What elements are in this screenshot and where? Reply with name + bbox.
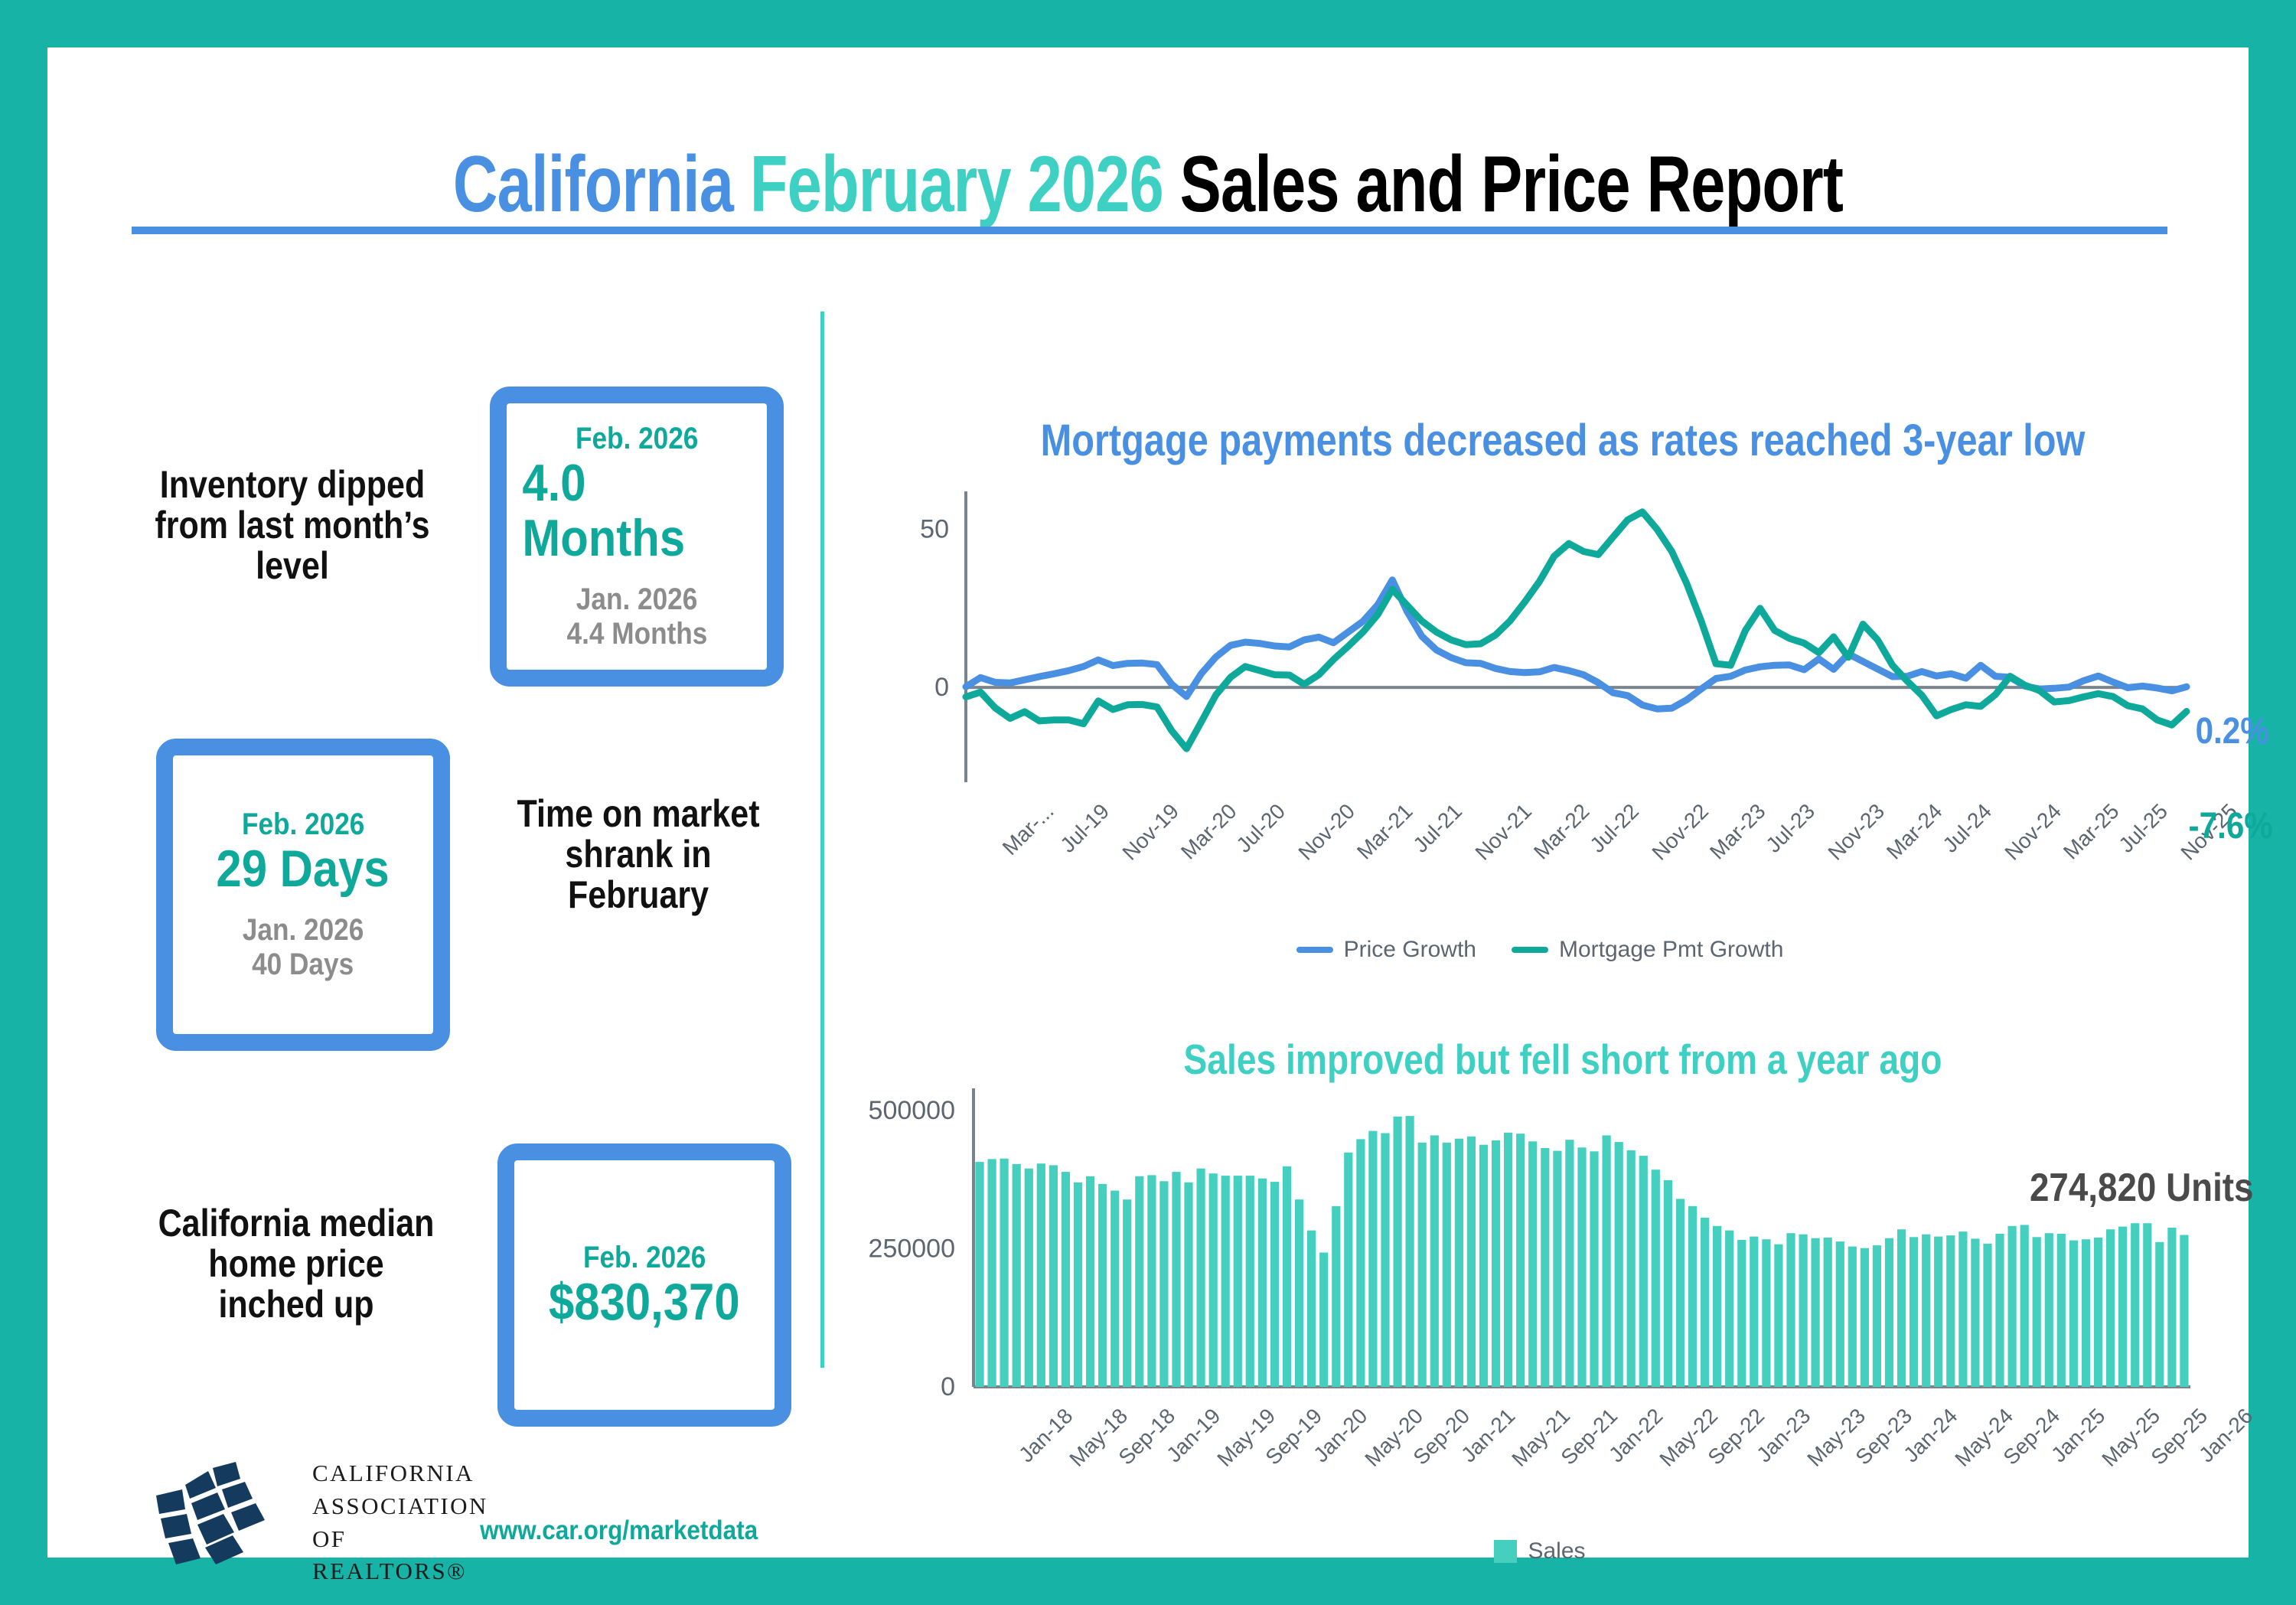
- stat-current-value: 29 Days: [217, 842, 390, 896]
- stat-previous-label: Jan. 2026: [576, 582, 698, 617]
- legend-label: Mortgage Pmt Growth: [1559, 937, 1783, 963]
- legend-item[interactable]: Mortgage Pmt Growth: [1512, 937, 1783, 963]
- mortgage-pmt-growth-end-label: -7.6%: [2189, 805, 2273, 847]
- legend-swatch-icon: [1512, 947, 1548, 953]
- line-chart-legend: Price GrowthMortgage Pmt Growth: [1195, 937, 1884, 963]
- car-logo-mark: [142, 1456, 295, 1571]
- vertical-divider: [820, 312, 824, 1368]
- title-part-subject: Sales and Price Report: [1180, 140, 1843, 229]
- line-chart-title: Mortgage payments decreased as rates rea…: [1003, 415, 2122, 466]
- stat-current-label: Feb. 2026: [583, 1241, 706, 1275]
- legend-swatch-icon: [1296, 947, 1333, 953]
- logo-line-1: CALIFORNIA: [312, 1457, 488, 1490]
- title-divider: [132, 227, 2167, 234]
- stat-card-time-on-market: Feb. 2026 29 Days Jan. 2026 40 Days: [156, 739, 450, 1051]
- mortgage-price-growth-line-chart: 050: [843, 476, 2213, 813]
- svg-text:0: 0: [941, 1372, 955, 1401]
- stat-previous-value: 4.4 Months: [566, 617, 707, 651]
- svg-text:0: 0: [934, 673, 949, 702]
- infographic-page: California February 2026 Sales and Price…: [47, 47, 2249, 1558]
- legend-item[interactable]: Price Growth: [1296, 937, 1476, 963]
- stat-caption-median-price: California median home price inched up: [155, 1203, 438, 1325]
- title-part-month: February 2026: [750, 140, 1180, 229]
- price-growth-end-label: 0.2%: [2196, 710, 2269, 752]
- legend-label: Price Growth: [1344, 937, 1476, 963]
- svg-text:250000: 250000: [869, 1234, 955, 1263]
- legend-label: Sales: [1528, 1538, 1585, 1564]
- stat-previous-label: Jan. 2026: [243, 913, 364, 948]
- stat-previous-value: 40 Days: [252, 948, 354, 982]
- stat-current-value: $830,370: [549, 1275, 740, 1329]
- stat-current-label: Feb. 2026: [242, 807, 364, 842]
- page-title: California February 2026 Sales and Price…: [289, 139, 2006, 230]
- stat-card-median-price: Feb. 2026 $830,370: [497, 1143, 791, 1427]
- stat-current-label: Feb. 2026: [576, 422, 698, 456]
- bar-chart-legend: Sales: [1349, 1538, 1731, 1564]
- title-part-state: California: [453, 140, 750, 229]
- marketdata-url[interactable]: www.car.org/marketdata: [480, 1515, 758, 1546]
- car-logo-text: CALIFORNIA ASSOCIATION OF REALTORS®: [312, 1457, 488, 1588]
- stat-caption-inventory: Inventory dipped from last month’s level: [154, 465, 430, 586]
- svg-text:50: 50: [920, 515, 949, 544]
- logo-line-2: ASSOCIATION: [312, 1490, 488, 1523]
- logo-line-3: OF REALTORS®: [312, 1523, 488, 1589]
- svg-text:500000: 500000: [869, 1096, 955, 1125]
- sales-units-annotation: 274,820 Units: [2030, 1165, 2254, 1211]
- stat-caption-time-on-market: Time on market shrank in February: [507, 794, 770, 915]
- legend-swatch-icon: [1494, 1540, 1517, 1563]
- stat-card-inventory: Feb. 2026 4.0 Months Jan. 2026 4.4 Month…: [490, 387, 784, 687]
- car-logo: CALIFORNIA ASSOCIATION OF REALTORS®: [142, 1456, 448, 1571]
- stat-current-value: 4.0 Months: [522, 456, 751, 566]
- legend-item[interactable]: Sales: [1494, 1538, 1585, 1564]
- sales-bar-chart: 0250000500000: [843, 1073, 2213, 1417]
